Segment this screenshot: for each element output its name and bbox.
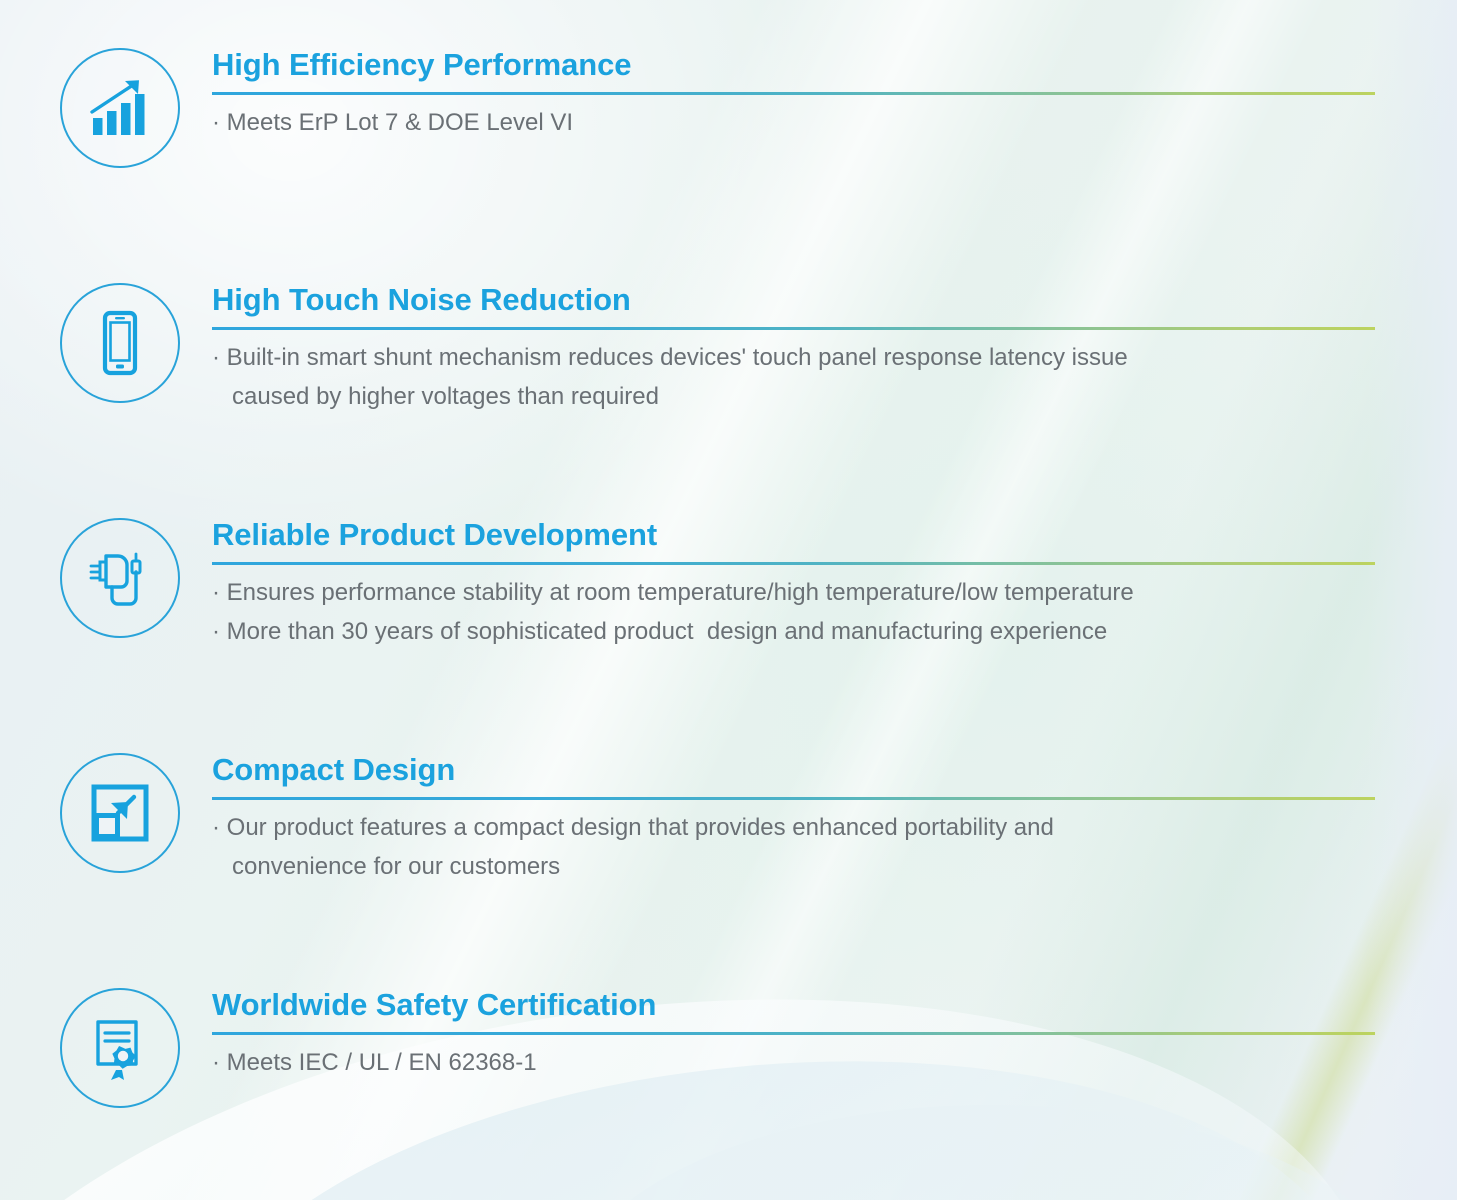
feature-list: High Efficiency Performance · Meets ErP …: [0, 0, 1457, 1200]
feature-title: Reliable Product Development: [212, 518, 1392, 552]
feature-icon-wrap: [60, 988, 180, 1108]
feature-divider-rule: [212, 562, 1375, 565]
feature-title: High Touch Noise Reduction: [212, 283, 1392, 317]
feature-divider-rule: [212, 1032, 1375, 1035]
feature-text-block: High Touch Noise Reduction · Built-in sm…: [212, 283, 1392, 417]
compact-resize-icon: [86, 779, 154, 847]
certificate-award-icon: [86, 1014, 154, 1082]
feature-icon-wrap: [60, 753, 180, 873]
power-adapter-icon: [86, 544, 154, 612]
feature-bullet-list: · Meets IEC / UL / EN 62368-1: [212, 1044, 1392, 1083]
feature-text-block: Worldwide Safety Certification · Meets I…: [212, 988, 1392, 1083]
feature-divider-rule: [212, 92, 1375, 95]
feature-bullet: · Meets ErP Lot 7 & DOE Level VI: [212, 104, 1392, 143]
feature-bullet: · Our product features a compact design …: [212, 809, 1392, 887]
feature-icon-wrap: [60, 283, 180, 403]
feature-title: Worldwide Safety Certification: [212, 988, 1392, 1022]
feature-bullet: · Ensures performance stability at room …: [212, 574, 1392, 613]
feature-text-block: High Efficiency Performance · Meets ErP …: [212, 48, 1392, 143]
feature-bullet: · Built-in smart shunt mechanism reduces…: [212, 339, 1392, 417]
feature-icon-wrap: [60, 48, 180, 168]
feature-text-block: Reliable Product Development · Ensures p…: [212, 518, 1392, 652]
smartphone-icon: [86, 309, 154, 377]
bar-chart-growth-icon: [86, 74, 154, 142]
feature-bullet: · More than 30 years of sophisticated pr…: [212, 613, 1392, 652]
feature-bullet: · Meets IEC / UL / EN 62368-1: [212, 1044, 1392, 1083]
feature-title: High Efficiency Performance: [212, 48, 1392, 82]
feature-text-block: Compact Design · Our product features a …: [212, 753, 1392, 887]
feature-icon-wrap: [60, 518, 180, 638]
feature-bullet-list: · Meets ErP Lot 7 & DOE Level VI: [212, 104, 1392, 143]
feature-bullet-list: · Built-in smart shunt mechanism reduces…: [212, 339, 1392, 417]
feature-divider-rule: [212, 327, 1375, 330]
feature-bullet-list: · Our product features a compact design …: [212, 809, 1392, 887]
feature-title: Compact Design: [212, 753, 1392, 787]
feature-bullet-list: · Ensures performance stability at room …: [212, 574, 1392, 652]
feature-divider-rule: [212, 797, 1375, 800]
